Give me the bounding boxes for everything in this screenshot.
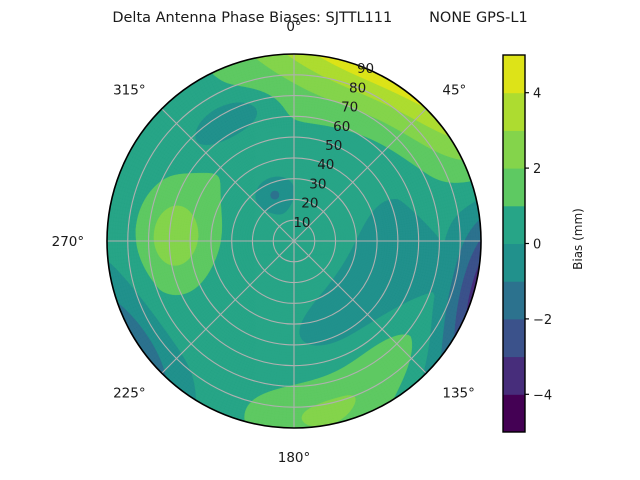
- colorbar-tick-label: −4: [533, 388, 552, 403]
- page-title: Delta Antenna Phase Biases: SJTTL111 NON…: [0, 10, 640, 26]
- colorbar-segment: [503, 130, 525, 168]
- angular-tick-label: 180°: [278, 450, 311, 466]
- colorbar-segment: [503, 206, 525, 244]
- radial-tick-label: 60: [333, 119, 350, 135]
- colorbar-tick-label: 4: [533, 87, 541, 102]
- figure-canvas: Delta Antenna Phase Biases: SJTTL111 NON…: [0, 0, 640, 480]
- colorbar-segment: [503, 357, 525, 395]
- colorbar-segment: [503, 394, 525, 432]
- colorbar-segment: [503, 319, 525, 357]
- colorbar-tick-label: 0: [533, 238, 541, 253]
- angular-tick-label: 225°: [113, 385, 146, 401]
- radial-tick-label: 90: [357, 61, 374, 77]
- polar-contour-plot: 102030405060708090 0°45°90135°180°225°27…: [0, 0, 640, 480]
- colorbar-axis-label: Bias (mm): [571, 208, 585, 270]
- angular-tick-label: 315°: [113, 83, 146, 99]
- radial-tick-label: 40: [317, 157, 334, 173]
- colorbar[interactable]: −4−2024: [503, 55, 552, 433]
- colorbar-tick-label: 2: [533, 162, 541, 177]
- radial-tick-label: 10: [293, 215, 310, 231]
- radial-tick-label: 80: [349, 80, 366, 96]
- angular-tick-label: 135°: [442, 385, 475, 401]
- colorbar-segment: [503, 55, 525, 93]
- radial-tick-label: 20: [301, 196, 318, 212]
- colorbar-segment: [503, 168, 525, 206]
- angular-tick-label: 45°: [442, 83, 466, 99]
- colorbar-segment: [503, 244, 525, 282]
- colorbar-segment: [503, 281, 525, 319]
- radial-tick-label: 50: [325, 138, 342, 154]
- angular-tick-label: 270°: [52, 234, 85, 250]
- radial-tick-label: 30: [309, 176, 326, 192]
- colorbar-tick-label: −2: [533, 313, 552, 328]
- radial-tick-label: 70: [341, 100, 358, 116]
- colorbar-segment: [503, 93, 525, 131]
- polar-grid-layer: [107, 54, 481, 428]
